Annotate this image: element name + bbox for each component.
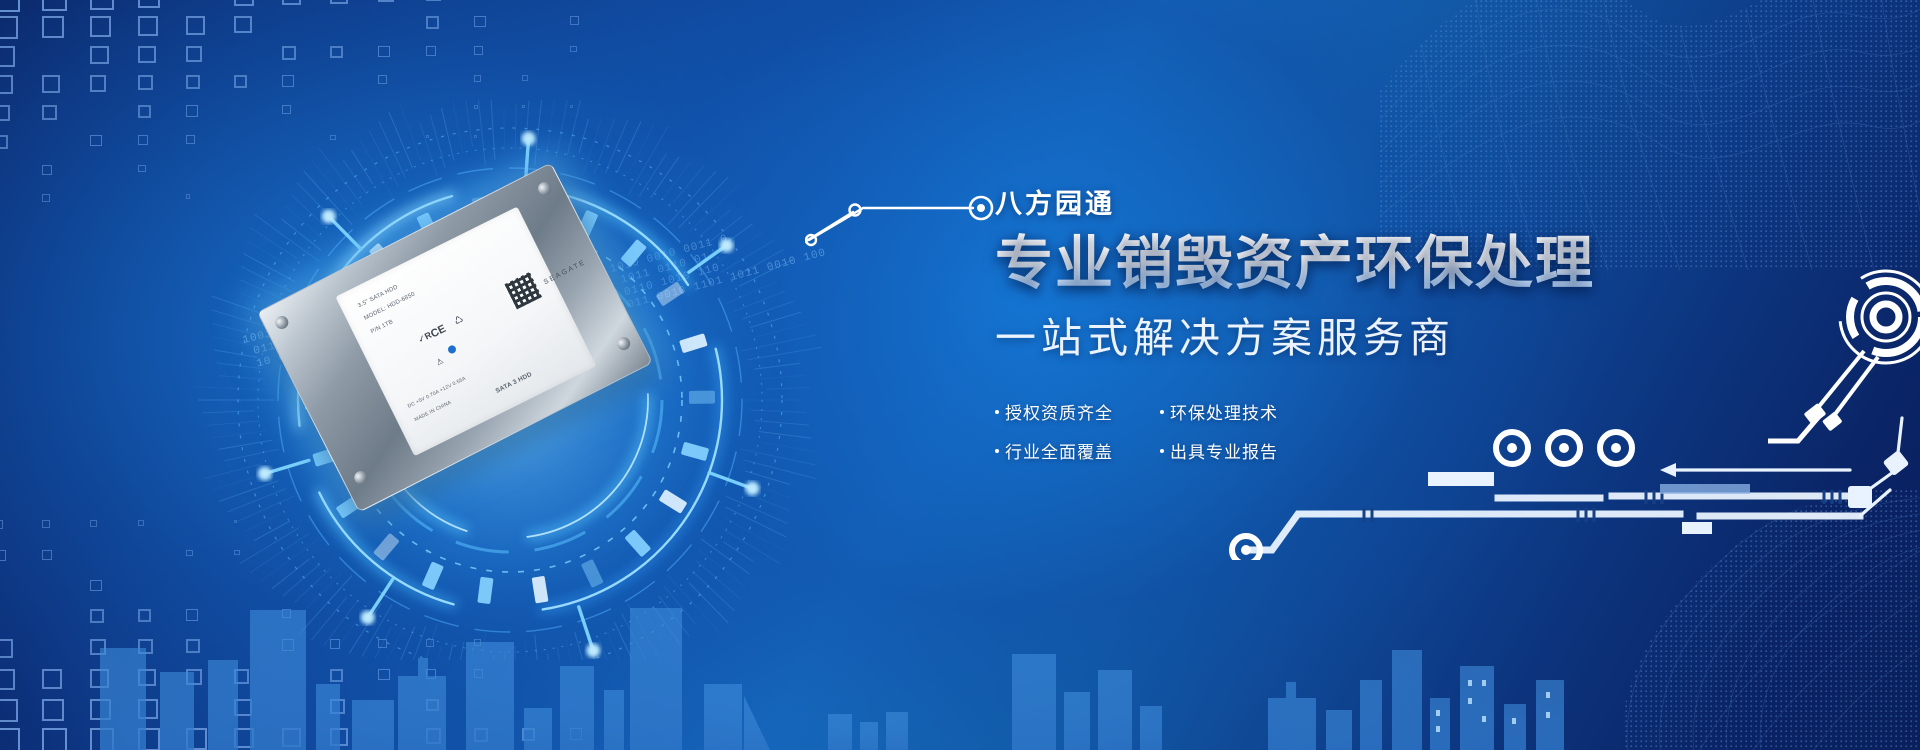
hero-subheadline: 一站式解决方案服务商 — [995, 304, 1755, 364]
grid-square — [426, 0, 441, 1]
grid-square — [42, 16, 64, 38]
brand-name: 八方园通 — [995, 182, 1755, 221]
grid-square — [0, 75, 13, 94]
grid-square — [90, 46, 109, 65]
hdd-screw — [273, 314, 290, 331]
grid-square — [138, 520, 144, 526]
grid-square — [90, 75, 106, 91]
grid-square — [42, 520, 50, 528]
bullet-dot-icon — [1160, 410, 1164, 414]
ring-segment — [689, 391, 715, 404]
grid-square — [330, 46, 343, 59]
grid-square — [378, 75, 387, 84]
bullet-row: 行业全面覆盖 出具专业报告 — [995, 431, 1325, 470]
grid-square — [522, 75, 528, 81]
feature-bullet-3: 出具专业报告 — [1160, 431, 1325, 470]
grid-square — [0, 550, 6, 562]
grid-square — [234, 75, 247, 88]
grid-square — [0, 16, 18, 40]
hdd-qr-code — [505, 272, 543, 310]
feature-bullet-0: 授权资质齐全 — [995, 392, 1160, 431]
hdd-label-line-2: P/N 1TB — [370, 319, 394, 335]
grid-square — [42, 0, 67, 11]
hdd-screw — [615, 335, 632, 352]
grid-square — [426, 16, 439, 29]
city-skyline-silhouette — [0, 580, 1920, 750]
hero-copy-block: 八方园通 专业销毁资产环保处理 一站式解决方案服务商 授权资质齐全 环保处理技术… — [995, 182, 1755, 470]
grid-square — [282, 46, 296, 60]
grid-square — [282, 0, 301, 5]
grid-square — [378, 46, 390, 58]
grid-square — [570, 46, 577, 53]
feature-bullet-label: 行业全面覆盖 — [1005, 438, 1113, 463]
bullet-dot-icon — [995, 449, 999, 453]
grid-square — [474, 46, 483, 55]
grid-square — [474, 16, 486, 28]
grid-square — [138, 105, 151, 118]
grid-square — [138, 165, 146, 173]
grid-square — [42, 75, 60, 93]
feature-bullet-2: 行业全面覆盖 — [995, 431, 1160, 470]
recycle-mark-icon: ♺ — [453, 314, 466, 328]
grid-square — [570, 16, 579, 25]
grid-square — [42, 550, 52, 560]
grid-square — [42, 194, 50, 202]
grid-square — [186, 75, 200, 89]
grid-square — [186, 16, 205, 35]
feature-bullet-list: 授权资质齐全 环保处理技术 行业全面覆盖 出具专业报告 — [995, 392, 1325, 470]
hdd-front-text: SATA 3 HDD — [495, 371, 534, 395]
bullet-dot-icon — [1160, 449, 1164, 453]
grid-square — [42, 165, 52, 175]
grid-square — [0, 105, 10, 121]
warning-mark-icon: ⚠ — [435, 356, 445, 367]
grid-square — [90, 520, 97, 527]
grid-square — [0, 520, 3, 529]
grid-square — [138, 46, 156, 64]
grid-square — [90, 135, 102, 147]
bullet-row: 授权资质齐全 环保处理技术 — [995, 392, 1325, 431]
grid-square — [138, 75, 153, 90]
grid-square — [138, 135, 148, 145]
hdd-blue-dot — [447, 344, 458, 355]
grid-square — [234, 0, 254, 6]
grid-square — [474, 75, 481, 82]
grid-square — [42, 105, 57, 120]
feature-bullet-label: 环保处理技术 — [1170, 399, 1278, 424]
grid-square — [90, 16, 111, 37]
bullet-dot-icon — [995, 410, 999, 414]
hero-headline: 专业销毁资产环保处理 — [995, 233, 1755, 294]
grid-square — [234, 16, 252, 34]
grid-square — [282, 75, 294, 87]
grid-square — [186, 46, 202, 62]
feature-bullet-1: 环保处理技术 — [1160, 392, 1325, 431]
node-target-center-icon — [977, 204, 985, 212]
grid-square — [0, 46, 15, 67]
hdd-screw — [536, 180, 553, 197]
tech-node-connector — [805, 178, 1020, 258]
feature-bullet-label: 出具专业报告 — [1170, 438, 1278, 463]
hdd-screw — [352, 469, 369, 486]
grid-square — [90, 0, 114, 10]
grid-square — [0, 0, 20, 12]
grid-square — [330, 0, 348, 4]
grid-square — [138, 0, 160, 8]
hero-banner: 1001 0010 1001 100 0110 1011 0111 01 10 … — [0, 0, 1920, 750]
feature-bullet-label: 授权资质齐全 — [1005, 399, 1113, 424]
grid-square — [138, 16, 158, 36]
grid-square — [0, 135, 8, 149]
grid-square — [426, 46, 436, 56]
circuit-hub-icon — [1768, 255, 1920, 445]
grid-square — [378, 0, 394, 2]
